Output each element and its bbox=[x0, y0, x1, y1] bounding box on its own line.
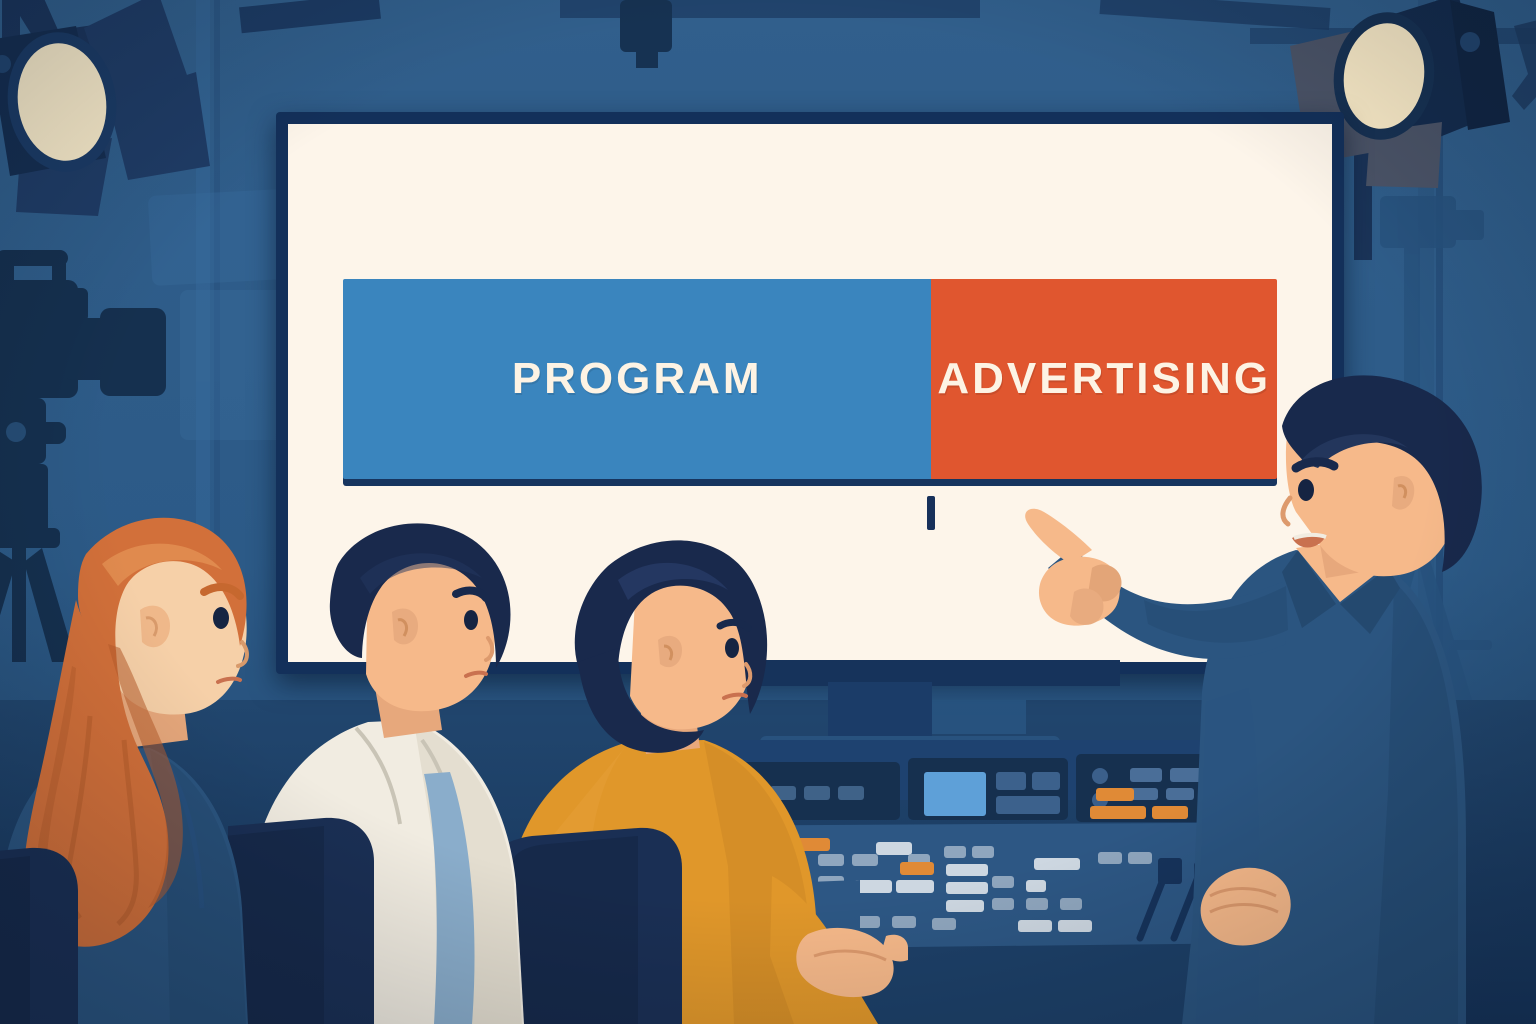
presenter-hand bbox=[1025, 509, 1121, 626]
person-presenter bbox=[996, 372, 1536, 1024]
studio-scene: PROGRAM ADVERTISING bbox=[0, 0, 1536, 1024]
bar-segment-program[interactable]: PROGRAM bbox=[343, 279, 931, 479]
person-red-hair bbox=[0, 516, 310, 1024]
bar-label-program: PROGRAM bbox=[512, 354, 763, 404]
axis-tick-mark bbox=[927, 496, 935, 530]
